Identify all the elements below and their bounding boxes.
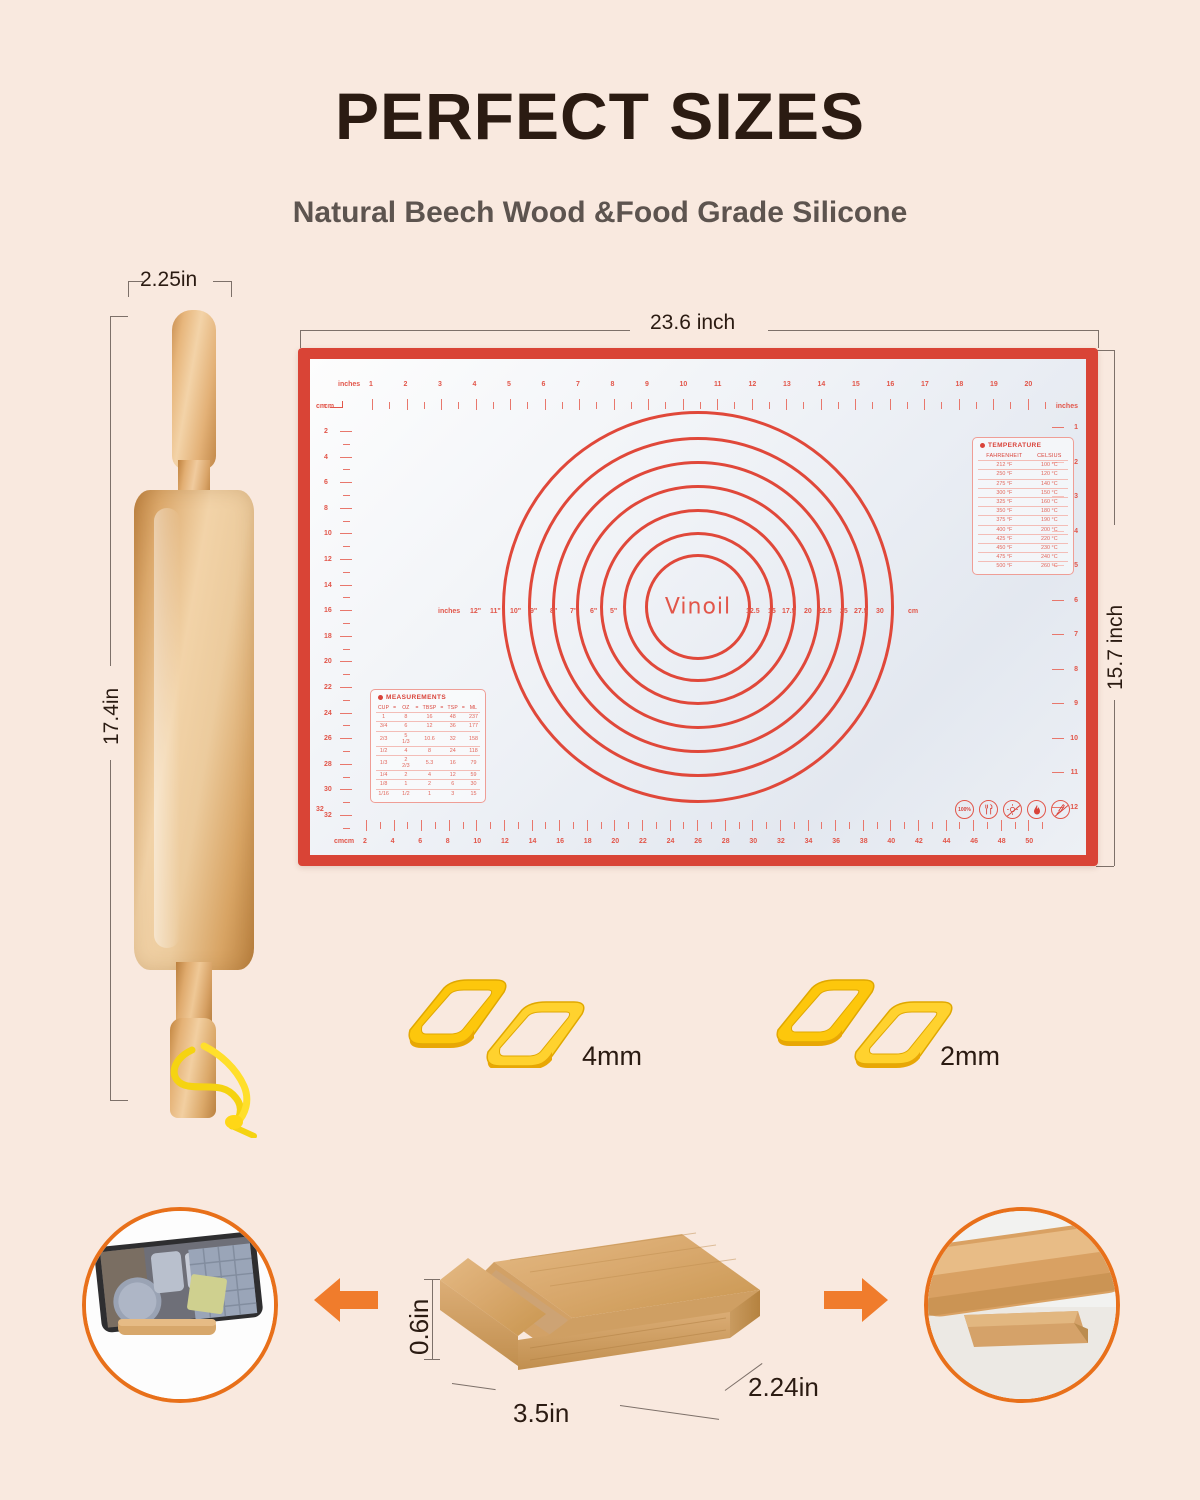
bottom-ruler-minor-tick: [987, 822, 988, 829]
left-ruler-value: 28: [324, 761, 332, 768]
measurements-caption: MEASUREMENTS: [376, 694, 480, 701]
bottom-ruler-tick: [808, 820, 809, 831]
measurements-column-header: CUP: [376, 704, 391, 713]
right-ruler-tick: [1052, 634, 1064, 635]
phone-in-stand-photo: [82, 1207, 278, 1403]
caption-dot-icon: [980, 443, 985, 448]
mat-surface: inches cm 123456789101112131415161718192…: [310, 359, 1086, 855]
top-ruler-tick: [993, 399, 994, 410]
center-right-value: 17.5: [782, 608, 796, 615]
top-ruler-minor-tick: [734, 402, 735, 409]
right-ruler-value: 1: [1074, 424, 1078, 431]
pin-handle-top: [172, 310, 216, 470]
100-percent-icon: 100%: [955, 800, 974, 819]
top-ruler-tick: [924, 399, 925, 410]
temperature-column-header: FAHRENHEIT: [978, 452, 1031, 461]
measurements-separator: [460, 771, 467, 780]
temperature-cell: 150 °C: [1031, 488, 1068, 497]
bottom-ruler-minor-tick: [601, 822, 602, 829]
bottom-ruler-tick: [449, 820, 450, 831]
hanging-cord-icon: [158, 1042, 268, 1138]
measurements-cell: 1: [421, 789, 439, 798]
center-right-value: 15: [768, 608, 776, 615]
top-ruler-tick: [717, 399, 718, 410]
measurements-cell: 4: [421, 771, 439, 780]
pin-width-dim-line-left: [128, 281, 144, 282]
pin-barrel: [134, 490, 254, 970]
left-ruler-value: 24: [324, 710, 332, 717]
temperature-cell: 325 °F: [978, 497, 1031, 506]
right-ruler-tick: [1052, 738, 1064, 739]
bottom-ruler-value: 40: [887, 838, 895, 845]
left-ruler-minor-tick: [343, 674, 350, 675]
bottom-ruler-tick: [504, 820, 505, 831]
center-left-value: 12": [470, 608, 481, 615]
stand-depth-label: 2.24in: [748, 1372, 819, 1403]
left-ruler-value: 10: [324, 530, 332, 537]
measurements-separator: [413, 731, 420, 746]
measurements-row: 2/35 1/310.632158: [376, 731, 480, 746]
silicone-baking-mat: inches cm 123456789101112131415161718192…: [298, 348, 1098, 866]
top-ruler-value: 2: [404, 381, 408, 388]
top-ruler-minor-tick: [941, 402, 942, 409]
bottom-ruler-minor-tick: [628, 822, 629, 829]
measurements-cell: 3/4: [376, 722, 391, 731]
bottom-ruler-value: 6: [418, 838, 422, 845]
measurements-separator: [438, 731, 445, 746]
left-ruler-tick: [340, 738, 352, 739]
bottom-ruler-tick: [587, 820, 588, 831]
center-right-unit: cm: [908, 608, 918, 615]
top-ruler-tick: [752, 399, 753, 410]
temperature-cell: 120 °C: [1031, 470, 1068, 479]
bottom-ruler-tick: [780, 820, 781, 831]
bottom-ruler-minor-tick: [1015, 822, 1016, 829]
measurements-column-header: =: [438, 704, 445, 713]
temperature-row: 425 °F220 °C: [978, 534, 1068, 543]
left-ruler-value: 14: [324, 582, 332, 589]
mat-width-tick-left: [300, 330, 301, 348]
bottom-ruler-unit: cm: [344, 838, 354, 845]
top-ruler-value: 1: [369, 381, 373, 388]
top-ruler-minor-tick: [769, 402, 770, 409]
center-right-value: 27.5: [854, 608, 868, 615]
top-ruler-value: 5: [507, 381, 511, 388]
measurements-cell: 1/16: [376, 789, 391, 798]
top-ruler-unit-right: inches: [1056, 403, 1078, 410]
temperature-cell: 190 °C: [1031, 516, 1068, 525]
left-ruler-tick: [340, 636, 352, 637]
center-right-value: 25: [840, 608, 848, 615]
bottom-ruler-tick: [670, 820, 671, 831]
temperature-row: 212 °F100 °C: [978, 461, 1068, 470]
temperature-cell: 200 °C: [1031, 525, 1068, 534]
center-right-value: 30: [876, 608, 884, 615]
measurements-separator: [391, 755, 398, 770]
top-ruler-tick: [890, 399, 891, 410]
arrow-left-icon: [310, 1272, 382, 1328]
measurements-separator: [413, 789, 420, 798]
measurements-header-row: CUP=OZ=TBSP=TSP=ML: [376, 704, 480, 713]
top-ruler-corner-mark-v: [342, 401, 343, 408]
left-ruler-value: 2: [324, 428, 328, 435]
bottom-ruler-tick: [835, 820, 836, 831]
measurements-cell: 4: [398, 746, 413, 755]
measurements-cell: 15: [467, 789, 480, 798]
temperature-cell: 400 °F: [978, 525, 1031, 534]
center-right-value: 12.5: [746, 608, 760, 615]
left-ruler-minor-tick: [343, 828, 350, 829]
measurements-column-header: ML: [467, 704, 480, 713]
measurements-separator: [438, 713, 445, 722]
bottom-ruler-value: 32: [777, 838, 785, 845]
measurements-cell: 12: [446, 771, 460, 780]
top-ruler-tick: [855, 399, 856, 410]
bottom-ruler-tick: [725, 820, 726, 831]
top-ruler-value: 15: [852, 381, 860, 388]
bottom-ruler-tick: [532, 820, 533, 831]
temperature-row: 325 °F160 °C: [978, 497, 1068, 506]
left-ruler-value: 16: [324, 607, 332, 614]
mat-height-dim-line-lower: [1114, 700, 1115, 866]
top-ruler-value: 16: [887, 381, 895, 388]
top-ruler-value: 18: [956, 381, 964, 388]
bottom-ruler-tick: [476, 820, 477, 831]
top-ruler-value: 10: [680, 381, 688, 388]
bottom-ruler-tick: [1001, 820, 1002, 831]
left-ruler-value: 30: [324, 786, 332, 793]
left-ruler-tick: [340, 789, 352, 790]
top-ruler-minor-tick: [803, 402, 804, 409]
rolling-pin: [120, 300, 270, 1120]
page-subtitle: Natural Beech Wood &Food Grade Silicone: [0, 196, 1200, 230]
measurements-row: 181648237: [376, 713, 480, 722]
bottom-ruler-value: 20: [611, 838, 619, 845]
temperature-caption: TEMPERATURE: [978, 442, 1068, 449]
measurements-separator: [460, 722, 467, 731]
bottom-ruler-value: 36: [832, 838, 840, 845]
left-ruler-value: 20: [324, 658, 332, 665]
bottom-ruler-value: 10: [473, 838, 481, 845]
temperature-cell: 180 °C: [1031, 507, 1068, 516]
mat-height-dim-line-upper: [1114, 350, 1115, 525]
temperature-cell: 475 °F: [978, 553, 1031, 562]
measurements-separator: [413, 722, 420, 731]
temperature-row: 400 °F200 °C: [978, 525, 1068, 534]
bottom-ruler-value: 30: [749, 838, 757, 845]
measurements-separator: [413, 780, 420, 789]
temperature-caption-text: TEMPERATURE: [988, 442, 1041, 449]
right-ruler-tick: [1052, 669, 1064, 670]
left-ruler-unit-top: cm: [324, 403, 334, 410]
measurements-cell: 6: [446, 780, 460, 789]
measurements-cell: 48: [446, 713, 460, 722]
measurements-cell: 158: [467, 731, 480, 746]
measurements-separator: [391, 789, 398, 798]
measurements-cell: 32: [446, 731, 460, 746]
measurements-cell: 8: [398, 713, 413, 722]
temperature-cell: 230 °C: [1031, 543, 1068, 552]
bottom-ruler-minor-tick: [545, 822, 546, 829]
bottom-ruler-value: 4: [391, 838, 395, 845]
measurements-separator: [460, 746, 467, 755]
measurements-cell: 10.6: [421, 731, 439, 746]
top-ruler-tick: [1028, 399, 1029, 410]
measurements-separator: [438, 722, 445, 731]
bottom-ruler-tick: [752, 820, 753, 831]
bottom-ruler-minor-tick: [766, 822, 767, 829]
measurements-body: 1816482373/4612361772/35 1/310.6321581/2…: [376, 713, 480, 798]
left-ruler-value: 12: [324, 556, 332, 563]
top-ruler-value: 13: [783, 381, 791, 388]
top-ruler-tick: [441, 399, 442, 410]
pin-width-dim-line-right: [213, 281, 231, 282]
measurements-column-header: =: [391, 704, 398, 713]
bottom-ruler-value: 46: [970, 838, 978, 845]
top-ruler-minor-tick: [665, 402, 666, 409]
temperature-row: 450 °F230 °C: [978, 543, 1068, 552]
top-ruler-minor-tick: [527, 402, 528, 409]
measurements-row: 1/24824118: [376, 746, 480, 755]
left-ruler-value: 6: [324, 479, 328, 486]
pin-width-label: 2.25in: [140, 268, 197, 292]
top-ruler-value: 11: [714, 381, 721, 388]
bottom-ruler-tick: [918, 820, 919, 831]
bottom-ruler-value: 24: [667, 838, 675, 845]
center-left-value: 11": [490, 608, 501, 615]
left-ruler-tick: [340, 457, 352, 458]
measurements-cell: 16: [446, 755, 460, 770]
top-ruler-tick: [786, 399, 787, 410]
temperature-row: 275 °F140 °C: [978, 479, 1068, 488]
left-ruler-minor-tick: [343, 649, 350, 650]
bottom-ruler-tick: [1028, 820, 1029, 831]
left-ruler-value: 26: [324, 735, 332, 742]
left-ruler-minor-tick: [343, 725, 350, 726]
measurements-separator: [460, 731, 467, 746]
measurements-column-header: TBSP: [421, 704, 439, 713]
measurements-separator: [460, 713, 467, 722]
top-ruler-minor-tick: [424, 402, 425, 409]
caption-dot-icon: [378, 695, 383, 700]
temperature-row: 300 °F150 °C: [978, 488, 1068, 497]
measurements-cell: 2/3: [376, 731, 391, 746]
mat-height-tick-bottom: [1096, 866, 1114, 867]
measurements-cell: 5 1/3: [398, 731, 413, 746]
left-ruler-minor-tick: [343, 521, 350, 522]
bottom-ruler-minor-tick: [435, 822, 436, 829]
oven-safe-flame-icon: [1027, 800, 1046, 819]
measurements-separator: [391, 722, 398, 731]
left-ruler-minor-tick: [343, 546, 350, 547]
bottom-ruler-value: 50: [1025, 838, 1033, 845]
measurements-cell: 6: [398, 722, 413, 731]
measurements-cell: 2: [398, 771, 413, 780]
measurements-separator: [438, 746, 445, 755]
right-ruler-value: 7: [1074, 631, 1078, 638]
bottom-ruler-value: 12: [501, 838, 509, 845]
silicone-ring-4mm-label: 4mm: [582, 1041, 642, 1072]
measurements-cell: 59: [467, 771, 480, 780]
stand-width-label: 3.5in: [513, 1398, 569, 1429]
measurements-cell: 1/3: [376, 755, 391, 770]
bottom-ruler-tick: [559, 820, 560, 831]
measurements-cell: 2: [421, 780, 439, 789]
top-ruler-unit-left: inches: [338, 381, 360, 388]
measurements-table: MEASUREMENTS CUP=OZ=TBSP=TSP=ML 18164823…: [370, 689, 486, 803]
top-ruler-tick: [407, 399, 408, 410]
top-ruler-value: 6: [542, 381, 546, 388]
measurements-cell: 16: [421, 713, 439, 722]
page-title: PERFECT SIZES: [0, 78, 1200, 154]
bottom-ruler-value: 42: [915, 838, 923, 845]
top-ruler-minor-tick: [700, 402, 701, 409]
top-ruler-tick: [545, 399, 546, 410]
top-ruler-minor-tick: [493, 402, 494, 409]
center-left-value: 7": [570, 608, 577, 615]
right-ruler-tick: [1052, 427, 1064, 428]
temperature-cell: 240 °C: [1031, 553, 1068, 562]
bottom-ruler-minor-tick: [683, 822, 684, 829]
mat-height-tick-top: [1096, 350, 1114, 351]
top-ruler-tick: [510, 399, 511, 410]
center-left-value: 8": [550, 608, 557, 615]
top-ruler-tick: [959, 399, 960, 410]
bottom-ruler-minor-tick: [794, 822, 795, 829]
measurements-column-header: =: [460, 704, 467, 713]
top-ruler-value: 3: [438, 381, 442, 388]
left-ruler-tick: [340, 661, 352, 662]
bottom-ruler-value: 44: [943, 838, 951, 845]
left-ruler-unit-bottom: cm: [334, 838, 344, 845]
bottom-ruler-minor-tick: [959, 822, 960, 829]
mat-height-label: 15.7 inch: [1104, 605, 1128, 690]
measurements-cell: 8: [421, 746, 439, 755]
left-ruler-tick: [340, 585, 352, 586]
temperature-column-header: CELSIUS: [1031, 452, 1068, 461]
measurements-column-header: =: [413, 704, 420, 713]
bottom-ruler-minor-tick: [1042, 822, 1043, 829]
right-ruler-value: 10: [1070, 735, 1078, 742]
center-left-value: 9": [530, 608, 537, 615]
bottom-ruler-value: 14: [529, 838, 537, 845]
measurements-caption-text: MEASUREMENTS: [386, 694, 446, 701]
measurements-row: 1/812630: [376, 780, 480, 789]
measurements-separator: [460, 755, 467, 770]
measurements-cell: 1/8: [376, 780, 391, 789]
bottom-ruler-minor-tick: [821, 822, 822, 829]
left-ruler-tick: [340, 687, 352, 688]
temperature-cell: 275 °F: [978, 479, 1031, 488]
top-ruler-minor-tick: [458, 402, 459, 409]
measurements-row: 1/32 2/35.31679: [376, 755, 480, 770]
bottom-ruler-value: 18: [584, 838, 592, 845]
measurements-separator: [460, 780, 467, 789]
top-ruler-minor-tick: [562, 402, 563, 409]
measurements-separator: [391, 713, 398, 722]
measurements-column-header: OZ: [398, 704, 413, 713]
top-ruler-value: 9: [645, 381, 649, 388]
bottom-ruler-minor-tick: [904, 822, 905, 829]
center-right-value: 20: [804, 608, 812, 615]
left-ruler-value: 8: [324, 505, 328, 512]
top-ruler-tick: [648, 399, 649, 410]
measurements-cell: 36: [446, 722, 460, 731]
left-ruler-minor-tick: [343, 469, 350, 470]
right-ruler-tick: [1052, 703, 1064, 704]
temperature-row: 250 °F120 °C: [978, 470, 1068, 479]
pin-width-tick-left: [128, 281, 129, 297]
bottom-ruler-tick: [863, 820, 864, 831]
bottom-ruler-minor-tick: [518, 822, 519, 829]
top-ruler-minor-tick: [631, 402, 632, 409]
measurements-cell: 177: [467, 722, 480, 731]
measurements-cell: 2 2/3: [398, 755, 413, 770]
right-ruler-tick: [1052, 600, 1064, 601]
bottom-ruler-minor-tick: [849, 822, 850, 829]
left-ruler-minor-tick: [343, 444, 350, 445]
temperature-row: 375 °F190 °C: [978, 516, 1068, 525]
top-ruler-minor-tick: [976, 402, 977, 409]
right-ruler-value: 6: [1074, 597, 1078, 604]
bottom-ruler-tick: [697, 820, 698, 831]
temperature-cell: 100 °C: [1031, 461, 1068, 470]
measurements-cell: 30: [467, 780, 480, 789]
top-ruler-value: 17: [921, 381, 929, 388]
temperature-row: 500 °F260 °C: [978, 562, 1068, 571]
top-ruler-tick: [821, 399, 822, 410]
left-ruler-tick: [340, 764, 352, 765]
top-ruler-tick: [372, 399, 373, 410]
bottom-ruler-corner: 32: [316, 806, 324, 813]
mat-width-label: 23.6 inch: [650, 311, 735, 335]
temperature-cell: 450 °F: [978, 543, 1031, 552]
bottom-ruler-minor-tick: [463, 822, 464, 829]
measurements-cell: 3: [446, 789, 460, 798]
top-ruler-tick: [579, 399, 580, 410]
top-ruler-minor-tick: [872, 402, 873, 409]
bottom-ruler-value: 16: [556, 838, 564, 845]
top-ruler-value: 4: [473, 381, 477, 388]
left-ruler-minor-tick: [343, 572, 350, 573]
temperature-cell: 220 °C: [1031, 534, 1068, 543]
bottom-ruler-minor-tick: [380, 822, 381, 829]
measurements-column-header: TSP: [446, 704, 460, 713]
measurements-separator: [391, 771, 398, 780]
bottom-ruler-value: 22: [639, 838, 647, 845]
center-left-unit: inches: [438, 608, 460, 615]
measurements-row: 3/461236177: [376, 722, 480, 731]
food-safe-icon: [979, 800, 998, 819]
bottom-ruler-minor-tick: [407, 822, 408, 829]
temperature-cell: 350 °F: [978, 507, 1031, 516]
right-ruler-value: 3: [1074, 493, 1078, 500]
bottom-ruler-tick: [366, 820, 367, 831]
temperature-header-row: FAHRENHEITCELSIUS: [978, 452, 1068, 461]
mat-width-dim-line-left: [300, 330, 630, 331]
left-ruler-value: 18: [324, 633, 332, 640]
bottom-ruler-tick: [614, 820, 615, 831]
top-ruler-value: 7: [576, 381, 580, 388]
left-ruler-value: 22: [324, 684, 332, 691]
measurements-cell: 1/2: [398, 789, 413, 798]
bottom-ruler-value: 26: [694, 838, 702, 845]
temperature-cell: 300 °F: [978, 488, 1031, 497]
silicone-ring-2mm-label: 2mm: [940, 1041, 1000, 1072]
bottom-ruler-minor-tick: [739, 822, 740, 829]
top-ruler-minor-tick: [1045, 402, 1046, 409]
mat-width-tick-right: [1098, 330, 1099, 348]
